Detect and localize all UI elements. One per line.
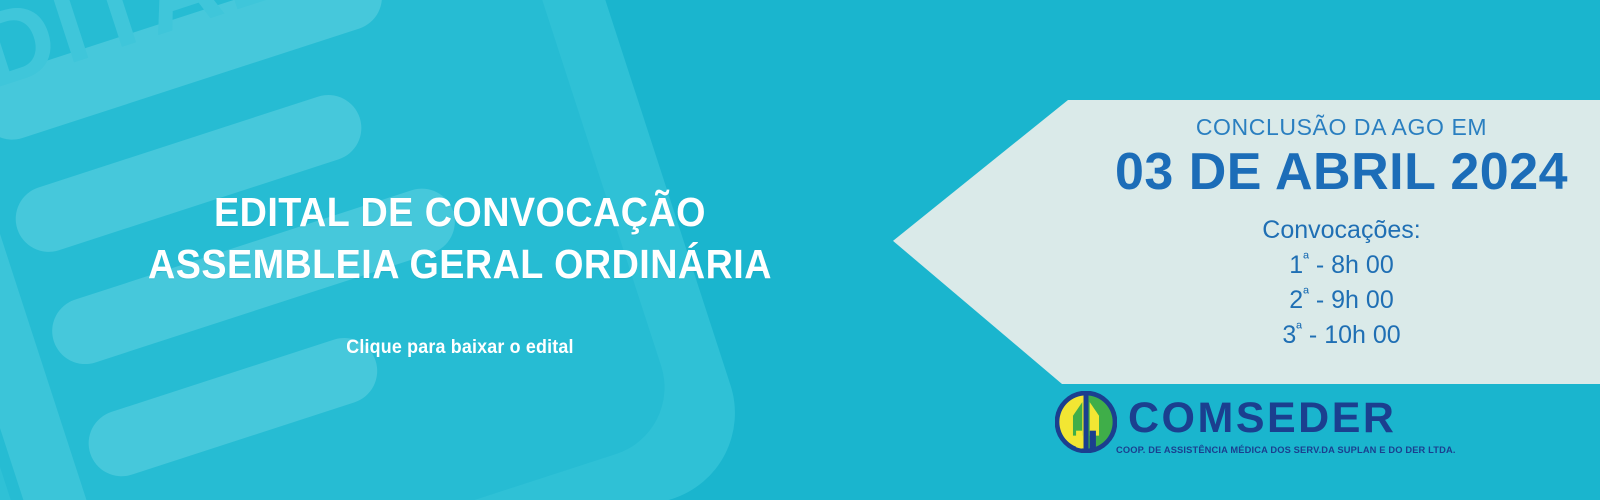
comseder-emblem-icon [1055, 391, 1117, 453]
comseder-tagline: COOP. DE ASSISTÊNCIA MÉDICA DOS SERV.DA … [1116, 445, 1456, 455]
conclusion-label: CONCLUSÃO DA AGO EM [1083, 114, 1600, 141]
convocation-separator: - [1309, 286, 1331, 314]
info-panel: CONCLUSÃO DA AGO EM 03 DE ABRIL 2024 Con… [893, 100, 1600, 384]
convocation-time: 9h 00 [1331, 286, 1394, 314]
convocation-ordinal: 1 [1289, 251, 1303, 279]
info-panel-content: CONCLUSÃO DA AGO EM 03 DE ABRIL 2024 Con… [1083, 100, 1600, 384]
convocation-separator: - [1309, 251, 1331, 279]
convocation-time: 8h 00 [1331, 251, 1394, 279]
comseder-wordmark: COMSEDER [1128, 397, 1456, 441]
convocation-item: 3ª - 10h 00 [1083, 318, 1600, 353]
comseder-logo[interactable]: COMSEDER COOP. DE ASSISTÊNCIA MÉDICA DOS… [1055, 390, 1405, 472]
convocations-list: 1ª - 8h 00 2ª - 9h 00 3ª - 10h 00 [1083, 248, 1600, 353]
watermark-label: EDITAL [0, 0, 303, 135]
watermark-text-line [0, 0, 391, 148]
convocation-time: 10h 00 [1324, 321, 1400, 349]
headline-line-2: ASSEMBLEIA GERAL ORDINÁRIA [37, 238, 883, 290]
convocation-ordinal: 2 [1289, 286, 1303, 314]
page-title: EDITAL DE CONVOCAÇÃO ASSEMBLEIA GERAL OR… [37, 186, 883, 291]
comseder-logo-text: COMSEDER COOP. DE ASSISTÊNCIA MÉDICA DOS… [1128, 390, 1456, 455]
download-edital-link[interactable]: Clique para baixar o edital [28, 337, 893, 359]
convocation-separator: - [1302, 321, 1324, 349]
headline-line-1: EDITAL DE CONVOCAÇÃO [37, 186, 883, 238]
convocations-label: Convocações: [1083, 213, 1600, 248]
convocation-ordinal: 3 [1282, 321, 1296, 349]
convocation-item: 2ª - 9h 00 [1083, 283, 1600, 318]
headline-block: EDITAL DE CONVOCAÇÃO ASSEMBLEIA GERAL OR… [0, 186, 920, 359]
conclusion-date: 03 DE ABRIL 2024 [1083, 143, 1600, 201]
edital-banner[interactable]: EDITAL EDITAL DE CONVOCAÇÃO ASSEMBLEIA G… [0, 0, 1600, 500]
convocation-item: 1ª - 8h 00 [1083, 248, 1600, 283]
